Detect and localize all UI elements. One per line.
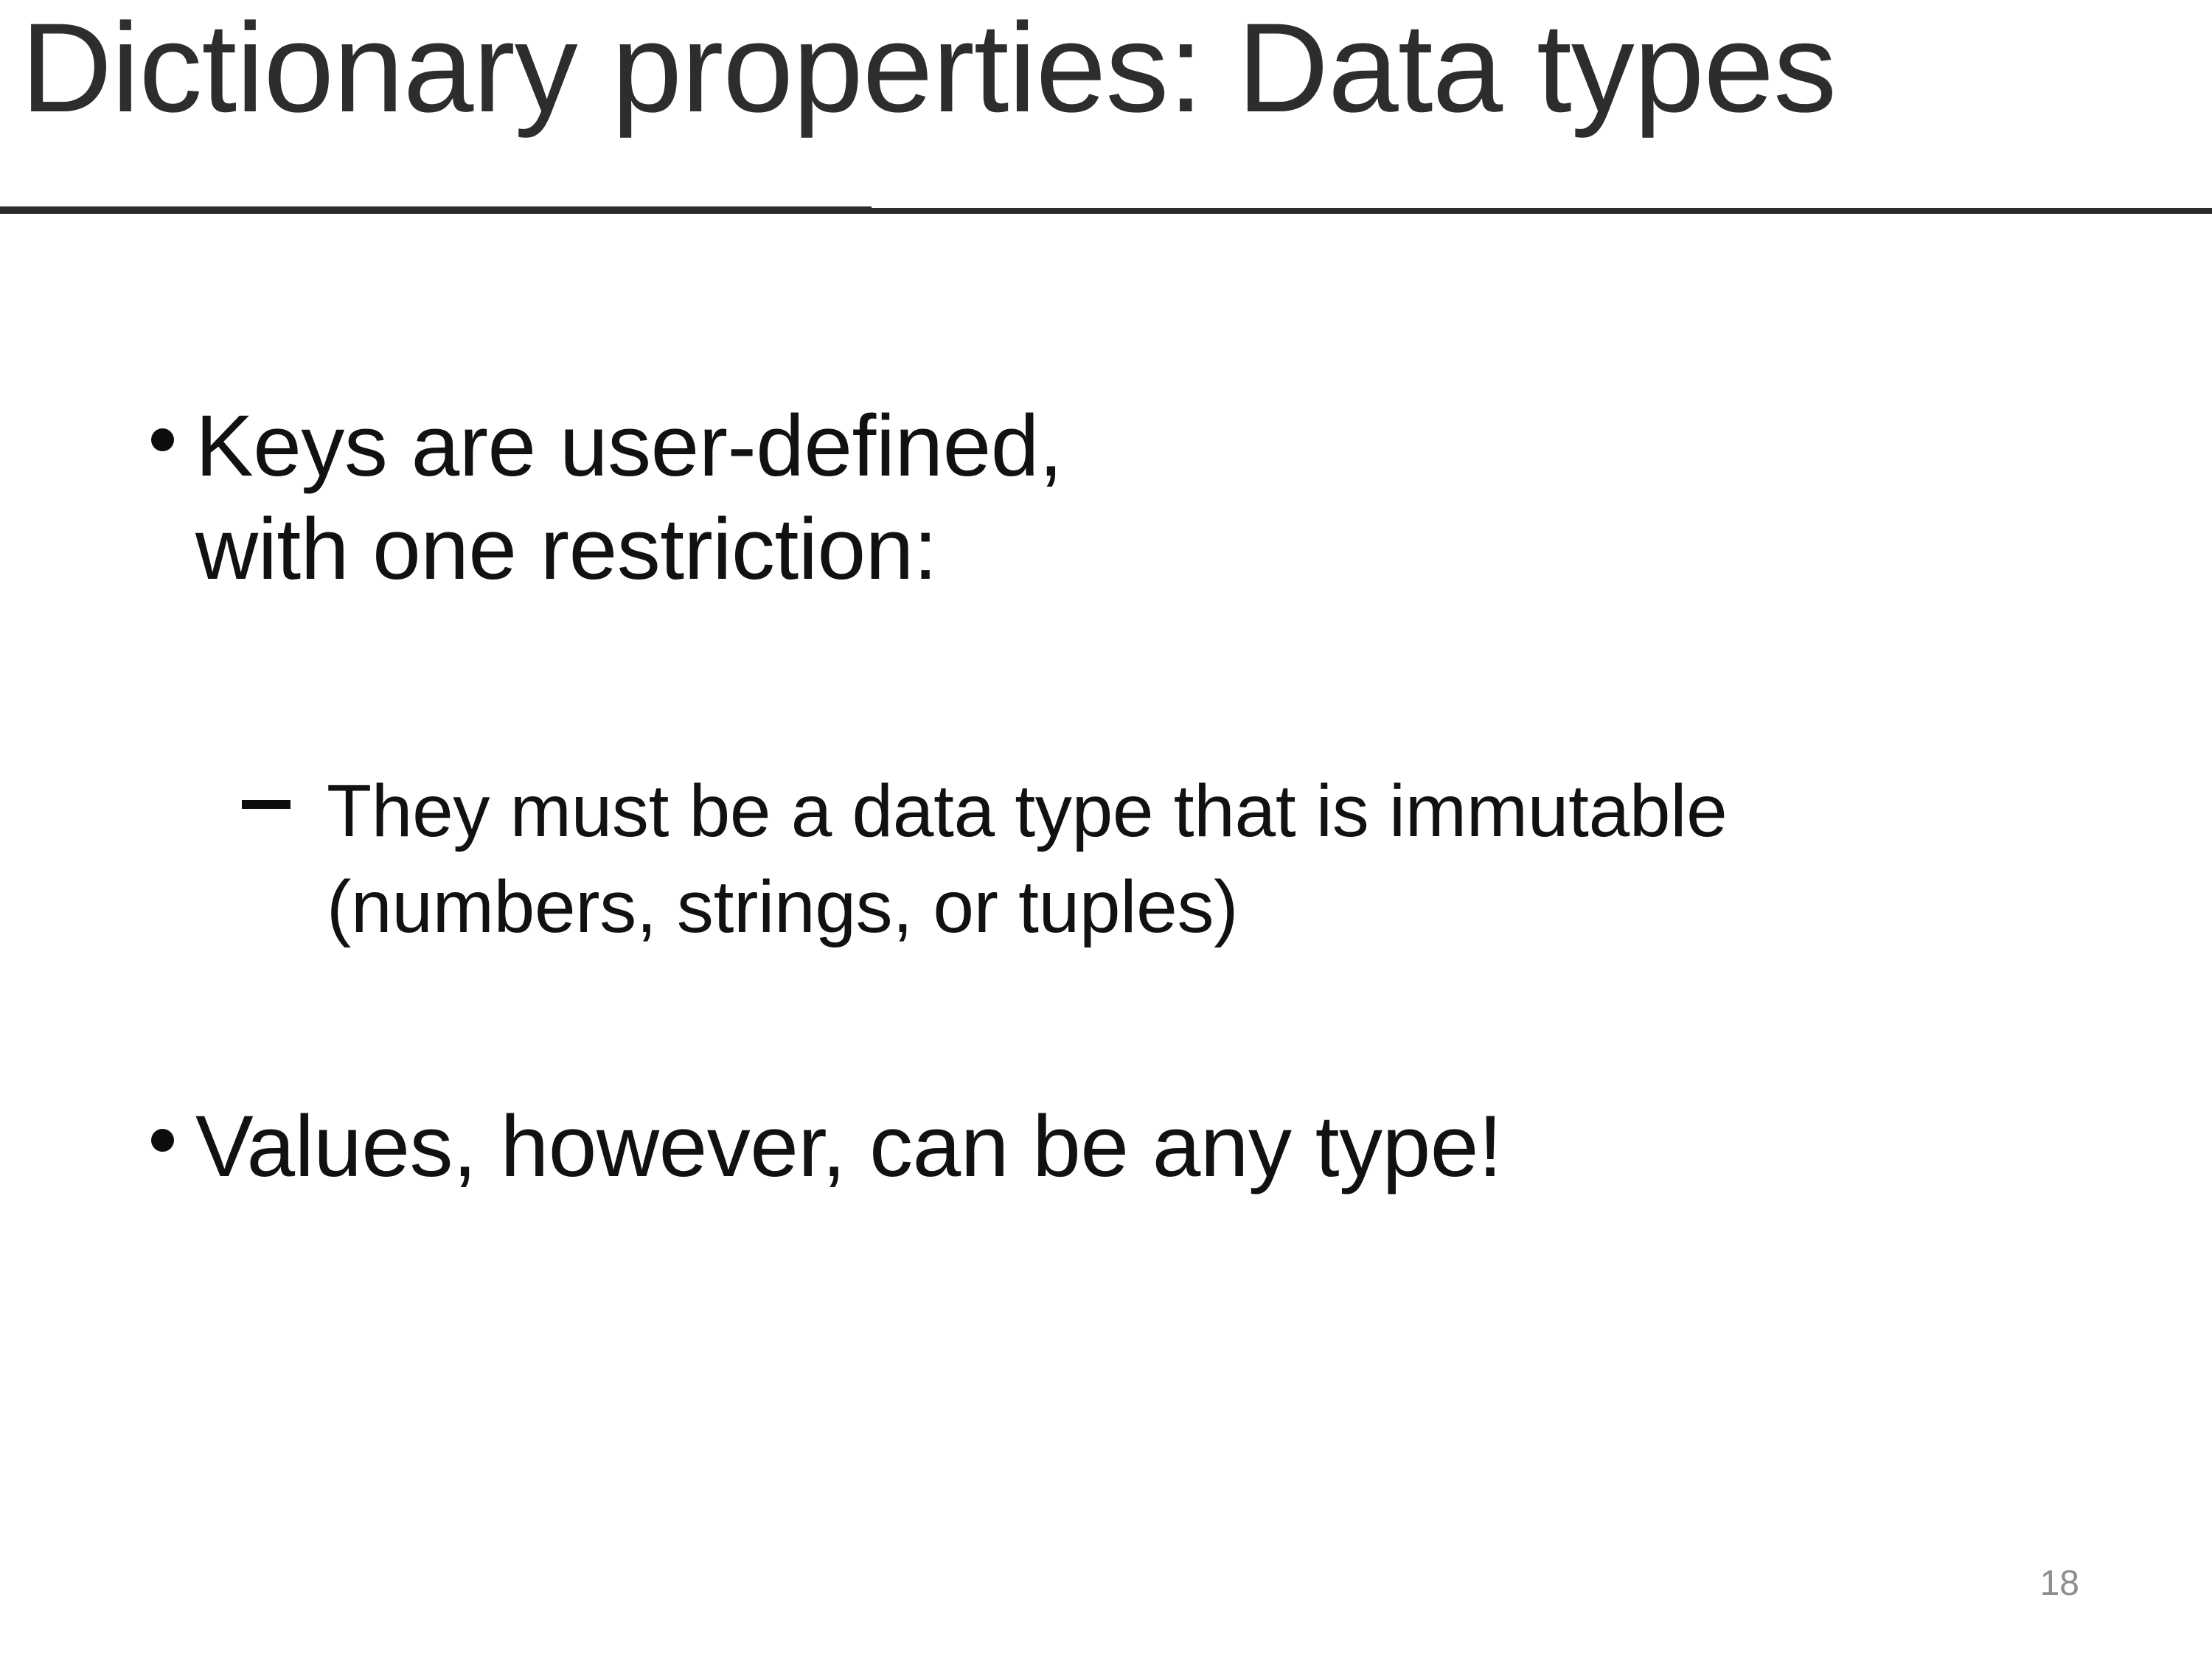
bullet-text-values: Values, however, can be any type! (195, 1095, 1502, 1198)
title-divider (0, 208, 2212, 214)
list-item: They must be a data type that is immutab… (236, 763, 2042, 955)
page-number: 18 (2040, 1566, 2079, 1601)
page-title: Dictionary properties: Data types (21, 0, 2159, 142)
slide-body: Keys are user-defined, with one restrict… (0, 243, 2212, 1497)
list-item: Values, however, can be any type! (122, 1095, 1744, 1198)
bullet-dot-icon (122, 1095, 195, 1182)
bullet-text-keys: Keys are user-defined, with one restrict… (195, 394, 1080, 601)
bullet-text-immutable: They must be a data type that is immutab… (327, 763, 2042, 955)
list-item: Keys are user-defined, with one restrict… (122, 394, 1080, 601)
slide-canvas: Dictionary properties: Data types Keys a… (0, 0, 2212, 1659)
bullet-dot-icon (122, 394, 195, 481)
en-dash-icon (236, 763, 327, 837)
